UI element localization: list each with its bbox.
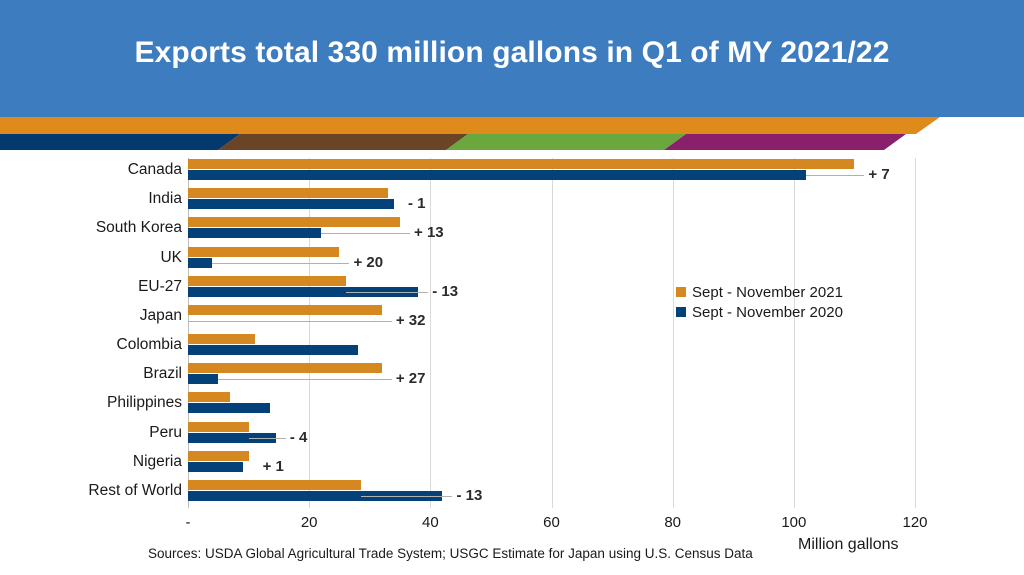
x-tick-label: 120 [885, 514, 945, 531]
header-banner: Exports total 330 million gallons in Q1 … [0, 0, 1024, 117]
legend-label: Sept - November 2020 [692, 304, 843, 321]
legend-item[interactable]: Sept - November 2020 [676, 302, 843, 322]
category-label: Japan [0, 304, 182, 333]
category-label: South Korea [0, 216, 182, 245]
bar-group: Canada [188, 158, 915, 187]
category-label: Philippines [0, 391, 182, 420]
bar-group: Rest of World [188, 479, 915, 508]
leader-line [806, 175, 864, 176]
bar-2021 [188, 305, 382, 315]
category-label: UK [0, 246, 182, 275]
bar-2021 [188, 422, 249, 432]
bar-group: Colombia [188, 333, 915, 362]
bar-2021 [188, 480, 361, 490]
legend-swatch-icon [676, 307, 686, 317]
chart-legend: Sept - November 2021Sept - November 2020 [676, 282, 843, 322]
x-tick-label: 40 [400, 514, 460, 531]
data-label: + 32 [396, 314, 426, 328]
chart-area: CanadaIndiaSouth KoreaUKEU-27JapanColomb… [0, 150, 1024, 575]
brown-stripe [218, 134, 468, 150]
bar-2020 [188, 228, 321, 238]
leader-line [249, 438, 286, 439]
source-footnote: Sources: USDA Global Agricultural Trade … [148, 546, 753, 561]
bar-2020 [188, 170, 806, 180]
bar-2021 [188, 159, 854, 169]
leader-line [212, 263, 349, 264]
bar-2020 [188, 199, 394, 209]
category-label: Brazil [0, 362, 182, 391]
purple-stripe [664, 134, 906, 150]
x-tick-label: 20 [279, 514, 339, 531]
category-label: Colombia [0, 333, 182, 362]
navy-stripe [0, 134, 240, 150]
bar-2021 [188, 276, 346, 286]
bar-group: South Korea [188, 216, 915, 245]
data-label: + 13 [414, 226, 444, 240]
bar-2021 [188, 188, 388, 198]
bar-2021 [188, 334, 255, 344]
leader-line [361, 496, 453, 497]
x-tick-label: 100 [764, 514, 824, 531]
legend-label: Sept - November 2021 [692, 284, 843, 301]
x-tick-label: - [158, 514, 218, 531]
bar-2021 [188, 363, 382, 373]
gridline [915, 158, 916, 508]
bar-2020 [188, 345, 358, 355]
category-label: Rest of World [0, 479, 182, 508]
bar-group: Nigeria [188, 450, 915, 479]
leader-line [346, 292, 429, 293]
bar-2020 [188, 258, 212, 268]
data-label: + 7 [868, 168, 889, 182]
data-label: - 4 [290, 431, 308, 445]
category-label: Peru [0, 421, 182, 450]
category-label: EU-27 [0, 275, 182, 304]
bar-2021 [188, 451, 249, 461]
data-label: + 27 [396, 372, 426, 386]
bar-2021 [188, 247, 339, 257]
data-label: + 20 [353, 256, 383, 270]
category-label: India [0, 187, 182, 216]
data-label: - 1 [408, 197, 426, 211]
data-label: + 1 [263, 460, 284, 474]
x-axis-title: Million gallons [798, 536, 899, 554]
plot-region: CanadaIndiaSouth KoreaUKEU-27JapanColomb… [188, 158, 915, 508]
bar-group: Brazil [188, 362, 915, 391]
page-title: Exports total 330 million gallons in Q1 … [0, 36, 1024, 70]
data-label: - 13 [456, 489, 482, 503]
x-tick-label: 60 [522, 514, 582, 531]
leader-line [321, 233, 410, 234]
bar-2020 [188, 462, 243, 472]
category-label: Canada [0, 158, 182, 187]
bar-group: India [188, 187, 915, 216]
bar-2020 [188, 403, 270, 413]
bar-2020 [188, 374, 218, 384]
bar-2021 [188, 392, 230, 402]
leader-line [188, 321, 392, 322]
data-label: - 13 [432, 285, 458, 299]
category-label: Nigeria [0, 450, 182, 479]
decorative-stripe-band [0, 117, 1024, 150]
bar-2021 [188, 217, 400, 227]
green-stripe [446, 134, 686, 150]
orange-stripe [0, 117, 940, 134]
legend-item[interactable]: Sept - November 2021 [676, 282, 843, 302]
bar-group: UK [188, 246, 915, 275]
bar-group: Philippines [188, 391, 915, 420]
leader-line [218, 379, 392, 380]
legend-swatch-icon [676, 287, 686, 297]
x-tick-label: 80 [643, 514, 703, 531]
